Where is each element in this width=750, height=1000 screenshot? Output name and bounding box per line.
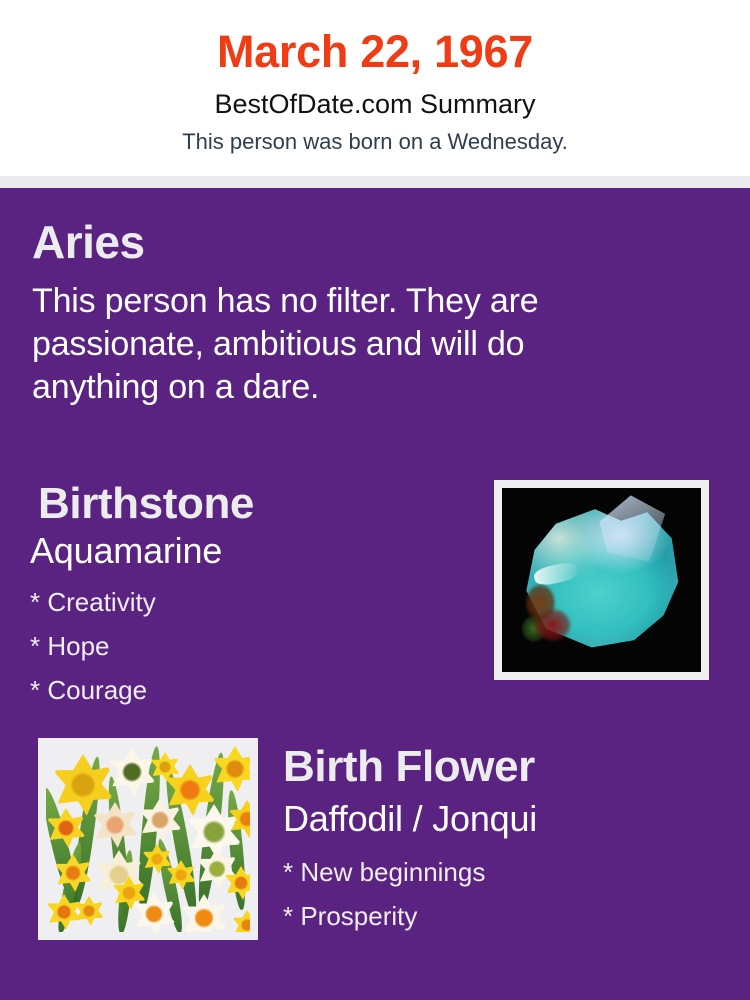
crystal-inclusion-icon xyxy=(518,584,574,647)
birthstone-traits-list: * Creativity * Hope * Courage xyxy=(30,580,470,712)
birth-flower-section: Birth Flower Daffodil / Jonqui * New beg… xyxy=(283,738,723,938)
birthstone-heading: Birthstone xyxy=(38,478,470,530)
birth-flower-name: Daffodil / Jonqui xyxy=(283,796,723,842)
birth-flower-heading: Birth Flower xyxy=(283,738,723,796)
header-divider xyxy=(0,176,750,188)
date-summary-card: March 22, 1967 BestOfDate.com Summary Th… xyxy=(0,0,750,1000)
birth-flower-photo-frame xyxy=(38,738,258,940)
list-item: * Courage xyxy=(30,668,470,712)
page-title-date: March 22, 1967 xyxy=(0,24,750,80)
daffodil-field-image xyxy=(46,746,250,932)
list-item: * New beginnings xyxy=(283,850,723,894)
day-of-week-text: This person was born on a Wednesday. xyxy=(0,126,750,158)
zodiac-sign-heading: Aries xyxy=(32,216,672,268)
daffodil-bloom xyxy=(52,754,114,816)
daffodil-bloom xyxy=(232,910,250,932)
daffodil-bloom xyxy=(92,802,138,848)
list-item: * Hope xyxy=(30,624,470,668)
birthstone-name: Aquamarine xyxy=(30,530,470,572)
list-item: * Creativity xyxy=(30,580,470,624)
birth-flower-traits-list: * New beginnings * Prosperity xyxy=(283,850,723,938)
card-header: March 22, 1967 BestOfDate.com Summary Th… xyxy=(0,0,750,176)
zodiac-description: This person has no filter. They are pass… xyxy=(32,280,642,409)
site-summary-label: BestOfDate.com Summary xyxy=(0,84,750,124)
list-item: * Prosperity xyxy=(283,894,723,938)
aquamarine-crystal-image xyxy=(502,488,701,672)
birthstone-section: Birthstone Aquamarine * Creativity * Hop… xyxy=(30,478,470,712)
zodiac-section: Aries This person has no filter. They ar… xyxy=(32,216,672,409)
birthstone-photo-frame xyxy=(494,480,709,680)
